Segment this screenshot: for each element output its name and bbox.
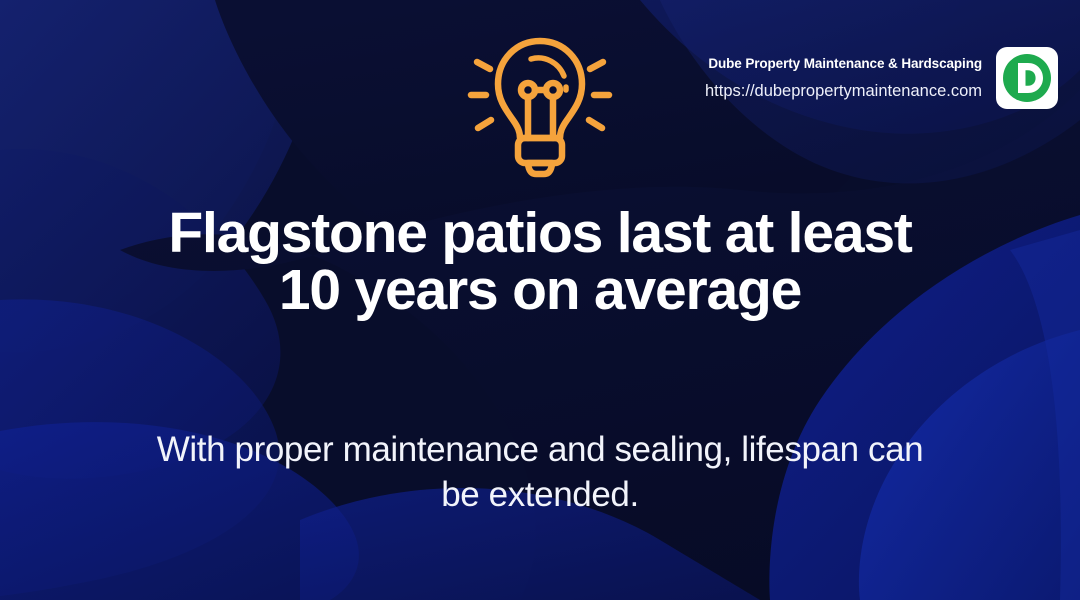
- page-subtitle: With proper maintenance and sealing, lif…: [150, 428, 930, 518]
- brand-name: Dube Property Maintenance & Hardscaping: [708, 57, 982, 71]
- page-title: Flagstone patios last at least 10 years …: [160, 205, 920, 319]
- social-post-canvas: Dube Property Maintenance & Hardscaping …: [0, 0, 1080, 600]
- brand-url[interactable]: https://dubepropertymaintenance.com: [705, 83, 982, 100]
- logo-d-icon: [1001, 52, 1053, 104]
- brand-logo-badge[interactable]: [996, 47, 1058, 109]
- lightbulb-icon: [465, 33, 615, 178]
- header-text-block: Dube Property Maintenance & Hardscaping …: [705, 57, 982, 99]
- header: Dube Property Maintenance & Hardscaping …: [705, 47, 1058, 109]
